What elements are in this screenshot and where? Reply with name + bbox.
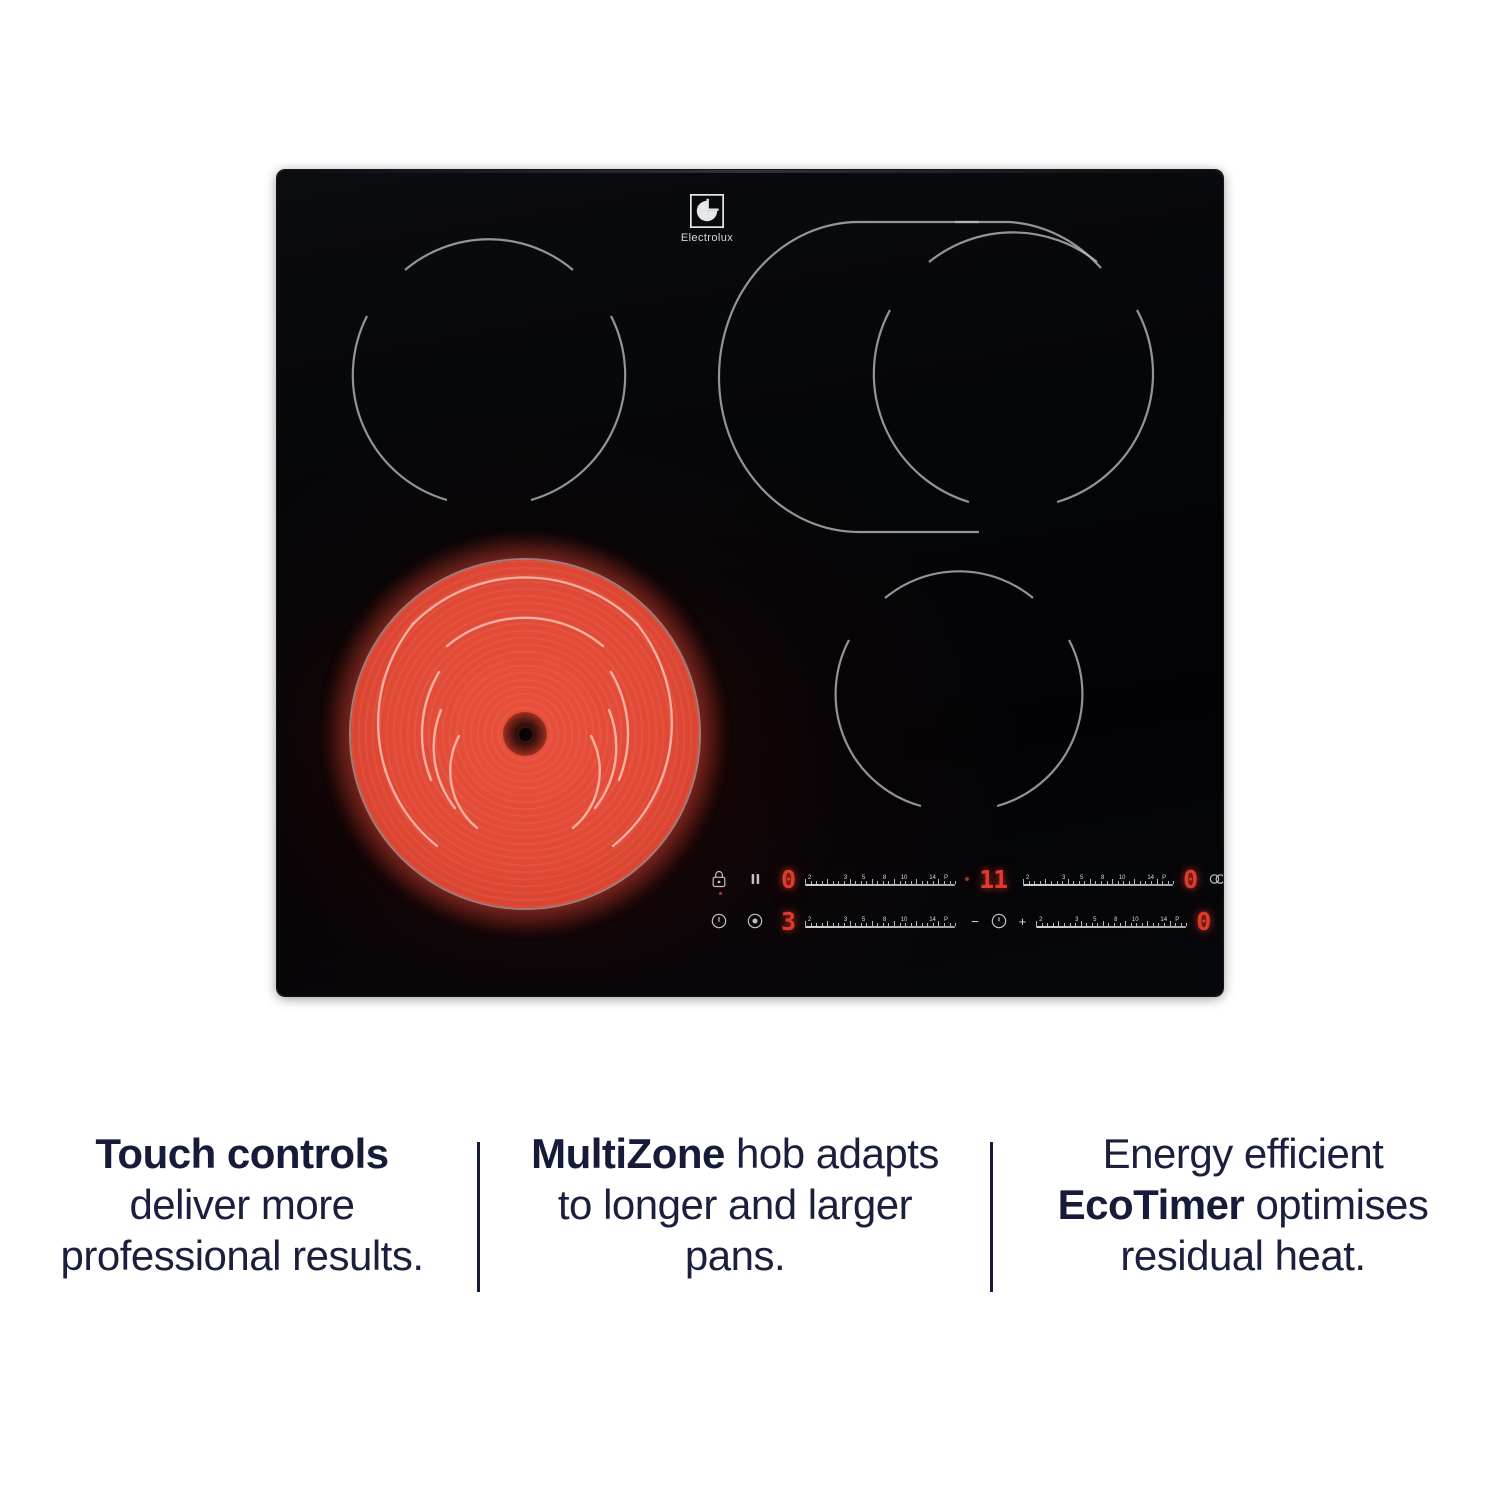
slider-front-left[interactable]: 23581014P [805, 908, 955, 934]
child-lock-icon[interactable] [745, 911, 765, 931]
feature-2-bold: MultiZone [531, 1130, 725, 1177]
front-right-zone [825, 568, 1093, 830]
display-rear-left-level: 0 [781, 867, 795, 892]
control-row-top: 0 23581014P 11 23581014P [709, 860, 1179, 898]
timer-minus-button[interactable]: − [971, 915, 979, 928]
control-row-bottom: 3 23581014P − + [709, 902, 1179, 940]
feature-1-rest: deliver more professional results. [60, 1181, 423, 1279]
display-front-right-level: 0 [1196, 909, 1210, 934]
slider-bar-rear-right[interactable] [1023, 884, 1173, 886]
slider-bar-front-left[interactable] [805, 926, 955, 928]
front-left-zone-active [351, 560, 699, 908]
timer-indicator-dot [965, 877, 969, 881]
display-timer-value: 11 [979, 867, 1007, 892]
feature-1-bold: Touch controls [95, 1130, 388, 1177]
power-icon[interactable] [709, 911, 729, 931]
slider-front-right[interactable]: 23581014P [1036, 908, 1186, 934]
display-front-left-level: 3 [781, 909, 795, 934]
hob-product-image: Electrolux [0, 0, 1500, 1110]
feature-multizone: MultiZone hob adapts to longer and large… [480, 1128, 990, 1282]
rear-left-zone [343, 232, 635, 524]
slider-bar-front-right[interactable] [1036, 926, 1186, 928]
slider-rear-left[interactable]: 23581014P [805, 866, 955, 892]
slider-rear-right[interactable]: 23581014P [1023, 866, 1173, 892]
feature-touch-controls: Touch controls deliver more professional… [7, 1128, 477, 1282]
bridge-zone-icon[interactable] [1207, 869, 1223, 889]
feature-ecotimer: Energy efficient EcoTimer optimises resi… [993, 1128, 1493, 1282]
slider-bar-rear-left[interactable] [805, 884, 955, 886]
feature-3-lead: Energy efficient [1103, 1130, 1384, 1177]
display-rear-right-level: 0 [1183, 867, 1197, 892]
pause-icon[interactable] [745, 869, 765, 889]
hob-glass-surface: Electrolux [277, 170, 1223, 996]
timer-plus-button[interactable]: + [1019, 915, 1027, 928]
feature-callout-strip: Touch controls deliver more professional… [0, 1128, 1500, 1338]
rear-right-inner-zone [857, 230, 1167, 530]
timer-clock-icon[interactable] [989, 911, 1009, 931]
touch-control-panel[interactable]: 0 23581014P 11 23581014P [709, 858, 1179, 954]
feature-3-bold: EcoTimer [1058, 1181, 1245, 1228]
zone-center-hub [503, 712, 547, 756]
lock-icon[interactable] [709, 869, 729, 889]
